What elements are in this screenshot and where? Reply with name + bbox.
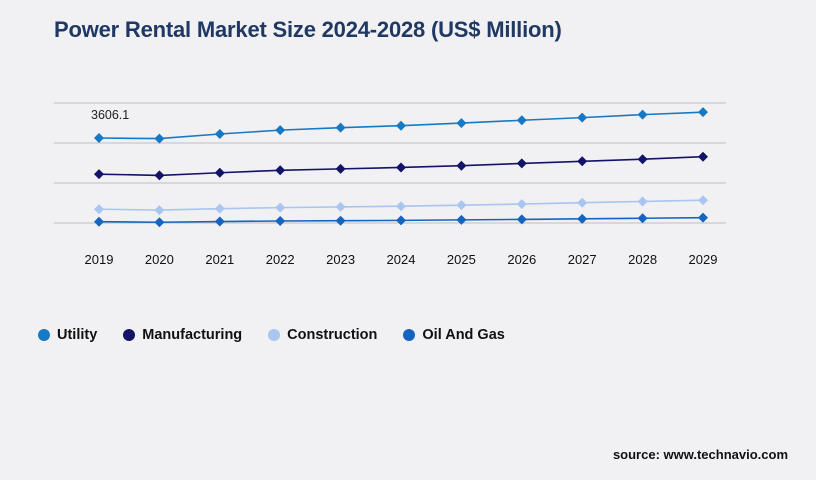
data-point-marker <box>698 213 708 223</box>
x-tick-2024: 2024 <box>387 252 416 267</box>
series-manufacturing <box>94 152 708 181</box>
data-point-marker <box>94 133 104 143</box>
legend-item-construction[interactable]: Construction <box>268 327 377 343</box>
data-point-marker <box>638 154 648 164</box>
data-point-marker <box>154 170 164 180</box>
legend-marker-icon <box>123 329 135 341</box>
x-tick-2019: 2019 <box>85 252 114 267</box>
legend-label: Manufacturing <box>142 327 242 343</box>
data-point-marker <box>336 164 346 174</box>
x-tick-2023: 2023 <box>326 252 355 267</box>
data-point-marker <box>215 217 225 227</box>
x-axis-tick-labels: 2019202020212022202320242025202620272028… <box>54 252 726 274</box>
x-tick-2025: 2025 <box>447 252 476 267</box>
data-point-marker <box>638 213 648 223</box>
legend-marker-icon <box>403 329 415 341</box>
x-tick-2022: 2022 <box>266 252 295 267</box>
data-point-marker <box>215 129 225 139</box>
legend-label: Oil And Gas <box>422 327 504 343</box>
series-utility <box>94 107 708 143</box>
x-tick-2021: 2021 <box>205 252 234 267</box>
data-point-marker <box>336 202 346 212</box>
legend-item-oil-and-gas[interactable]: Oil And Gas <box>403 327 504 343</box>
data-point-marker <box>154 205 164 215</box>
chart-title: Power Rental Market Size 2024-2028 (US$ … <box>54 17 562 43</box>
data-point-marker <box>275 165 285 175</box>
source-note: source: www.technavio.com <box>613 447 788 462</box>
legend-item-utility[interactable]: Utility <box>38 327 97 343</box>
data-point-marker <box>577 156 587 166</box>
data-point-marker <box>336 123 346 133</box>
series-oil-and-gas <box>94 213 708 228</box>
data-point-marker <box>94 217 104 227</box>
data-point-marker <box>456 161 466 171</box>
data-point-marker <box>456 118 466 128</box>
data-point-marker <box>638 110 648 120</box>
x-tick-2020: 2020 <box>145 252 174 267</box>
data-point-marker <box>517 158 527 168</box>
plot-area: 3606.1 <box>54 95 726 245</box>
legend-marker-icon <box>38 329 50 341</box>
data-point-marker <box>215 204 225 214</box>
x-tick-2027: 2027 <box>568 252 597 267</box>
data-point-marker <box>698 107 708 117</box>
data-point-marker <box>577 113 587 123</box>
data-point-marker <box>336 216 346 226</box>
legend-label: Utility <box>57 327 97 343</box>
data-point-marker <box>154 217 164 227</box>
series-lines <box>94 107 708 227</box>
data-label-utility-2019: 3606.1 <box>91 108 129 122</box>
data-point-marker <box>94 204 104 214</box>
data-point-marker <box>154 134 164 144</box>
data-point-marker <box>577 214 587 224</box>
legend-item-manufacturing[interactable]: Manufacturing <box>123 327 242 343</box>
legend-marker-icon <box>268 329 280 341</box>
data-point-marker <box>698 195 708 205</box>
series-construction <box>94 195 708 215</box>
data-point-marker <box>577 198 587 208</box>
data-point-marker <box>396 162 406 172</box>
data-point-marker <box>215 168 225 178</box>
data-point-marker <box>517 199 527 209</box>
data-point-marker <box>396 215 406 225</box>
x-tick-2029: 2029 <box>689 252 718 267</box>
chart-container: Power Rental Market Size 2024-2028 (US$ … <box>0 0 816 480</box>
data-point-marker <box>275 216 285 226</box>
x-tick-2026: 2026 <box>507 252 536 267</box>
data-point-marker <box>456 200 466 210</box>
gridlines <box>54 103 726 223</box>
data-point-marker <box>517 115 527 125</box>
data-point-marker <box>275 203 285 213</box>
legend-label: Construction <box>287 327 377 343</box>
x-tick-2028: 2028 <box>628 252 657 267</box>
data-point-marker <box>638 196 648 206</box>
chart-legend: UtilityManufacturingConstructionOil And … <box>38 324 505 346</box>
data-point-marker <box>396 201 406 211</box>
data-point-marker <box>275 125 285 135</box>
data-point-marker <box>94 169 104 179</box>
data-point-marker <box>396 121 406 131</box>
chart-plot-svg <box>54 95 726 245</box>
data-point-marker <box>698 152 708 162</box>
